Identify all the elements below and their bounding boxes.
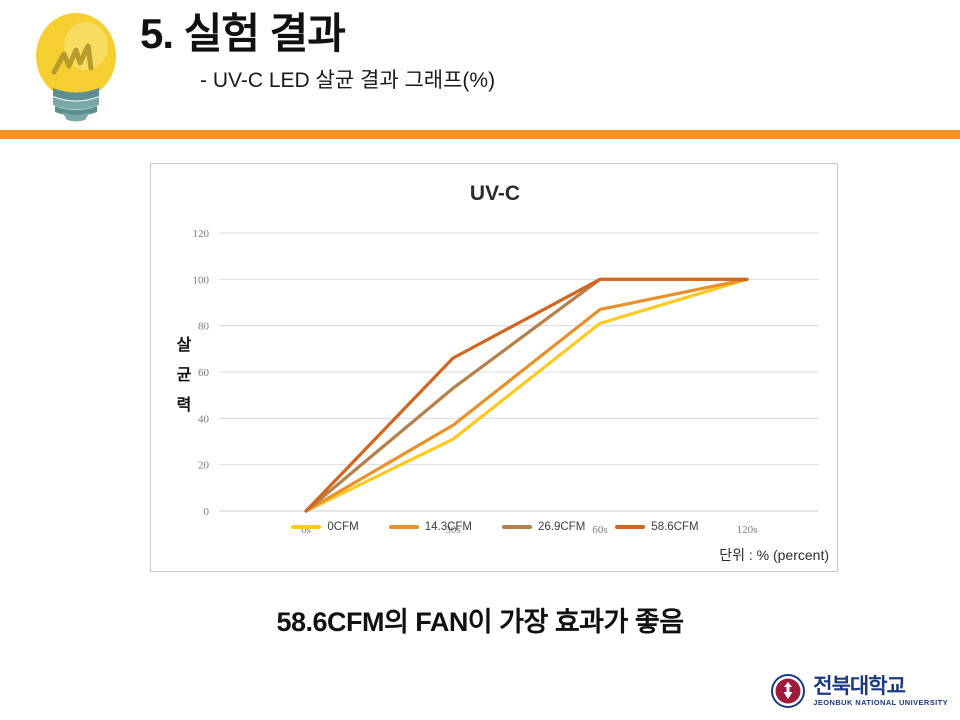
legend-swatch (615, 525, 645, 529)
conclusion-text: 58.6CFM의 FAN이 가장 효과가 좋음 (0, 600, 960, 639)
legend-item[interactable]: 58.6CFM (615, 521, 698, 533)
page-title: 5. 실험 결과 (140, 10, 760, 58)
page-subtitle: - UV-C LED 살균 결과 그래프(%) (200, 64, 760, 94)
logo-korean-text: 전북대학교 (813, 676, 948, 697)
logo-wordmark: 전북대학교 JEONBUK NATIONAL UNIVERSITY (813, 676, 948, 707)
legend-label: 14.3CFM (425, 521, 472, 533)
lightbulb-icon (22, 8, 130, 126)
legend-label: 0CFM (327, 521, 358, 533)
logo-english-text: JEONBUK NATIONAL UNIVERSITY (813, 699, 948, 707)
y-tick-label: 40 (198, 413, 210, 425)
y-tick-label: 20 (198, 460, 210, 472)
university-logo: 전북대학교 JEONBUK NATIONAL UNIVERSITY (771, 674, 948, 708)
chart-panel: UV-C 살 균 력 020406080100120 0s30s60s120s … (150, 163, 838, 572)
legend-item[interactable]: 14.3CFM (389, 521, 472, 533)
legend-swatch (502, 525, 532, 529)
legend-swatch (389, 525, 419, 529)
chart-plot: 020406080100120 0s30s60s120s (151, 164, 839, 573)
slide-header: 5. 실험 결과 - UV-C LED 살균 결과 그래프(%) (0, 0, 960, 140)
legend-item[interactable]: 26.9CFM (502, 521, 585, 533)
chart-legend: 0CFM14.3CFM26.9CFM58.6CFM (151, 521, 839, 533)
y-tick-label: 120 (193, 228, 210, 240)
series-line (306, 279, 747, 511)
y-tick-label: 100 (193, 274, 210, 286)
legend-item[interactable]: 0CFM (291, 521, 358, 533)
header-divider (0, 130, 960, 139)
series-line (306, 279, 747, 511)
y-tick-label: 0 (204, 506, 210, 518)
university-seal-icon (771, 674, 805, 708)
chart-ytick-labels: 020406080100120 (193, 228, 210, 518)
y-tick-label: 80 (198, 321, 210, 333)
legend-label: 26.9CFM (538, 521, 585, 533)
title-block: 5. 실험 결과 - UV-C LED 살균 결과 그래프(%) (140, 10, 760, 94)
legend-label: 58.6CFM (651, 521, 698, 533)
legend-swatch (291, 525, 321, 529)
series-line (306, 279, 747, 511)
chart-series-lines (306, 279, 747, 511)
y-tick-label: 60 (198, 367, 210, 379)
chart-unit-note: 단위 : % (percent) (719, 545, 829, 565)
series-line (306, 279, 747, 511)
